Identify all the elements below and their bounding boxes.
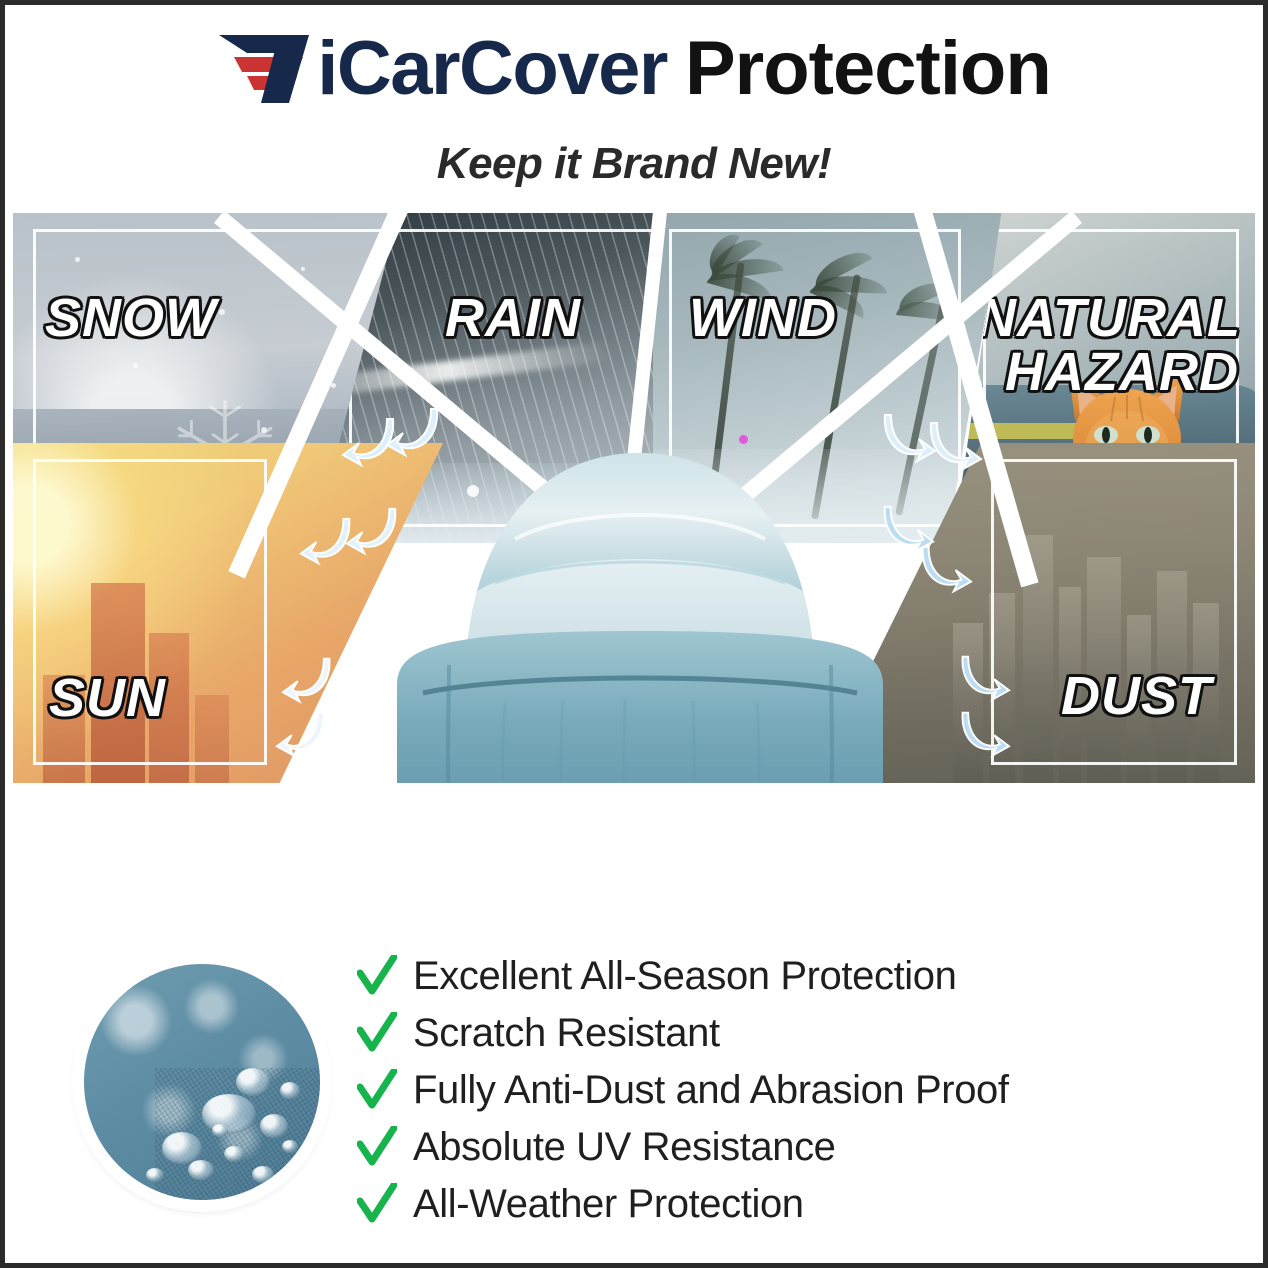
green-checkmark-icon: [357, 1069, 397, 1111]
icarcover-flag-logo-icon: [217, 31, 329, 107]
feature-label: Excellent All-Season Protection: [413, 956, 956, 996]
panel-label-wind: WIND: [689, 291, 837, 345]
panel-label-dust: DUST: [1061, 669, 1212, 723]
covered-car: [345, 435, 935, 783]
product-infographic: iCarCover Protection Keep it Brand New!: [0, 0, 1268, 1268]
feature-item: Absolute UV Resistance: [357, 1118, 1177, 1175]
panel-label-snow: SNOW: [45, 291, 217, 345]
feature-item: Scratch Resistant: [357, 1004, 1177, 1061]
curved-deflection-arrow-icon: [917, 541, 973, 601]
green-checkmark-icon: [357, 1126, 397, 1168]
feature-item: Excellent All-Season Protection: [357, 947, 1177, 1004]
panel-label-hazard: HAZARD: [1005, 345, 1239, 399]
brand-name: iCarCover: [317, 31, 667, 107]
feature-label: Absolute UV Resistance: [413, 1127, 836, 1167]
green-checkmark-icon: [357, 955, 397, 997]
curved-deflection-arrow-icon: [957, 707, 1011, 765]
panel-label-rain: RAIN: [445, 291, 581, 345]
feature-list: Excellent All-Season Protection Scratch …: [357, 947, 1177, 1232]
feature-label: All-Weather Protection: [413, 1184, 804, 1224]
curved-deflection-arrow-icon: [275, 707, 329, 765]
water-beading-image: [77, 957, 327, 1207]
curved-deflection-arrow-icon: [281, 653, 335, 711]
feature-label: Scratch Resistant: [413, 1013, 720, 1053]
curved-deflection-arrow-icon: [957, 651, 1011, 709]
panel-label-sun: SUN: [49, 671, 166, 725]
tagline: Keep it Brand New!: [5, 139, 1263, 189]
green-checkmark-icon: [357, 1012, 397, 1054]
feature-label: Fully Anti-Dust and Abrasion Proof: [413, 1070, 1009, 1110]
hero-panels: SNOW RAIN: [13, 213, 1255, 783]
product-name: Protection: [685, 31, 1051, 107]
header: iCarCover Protection Keep it Brand New!: [5, 5, 1263, 200]
curved-deflection-arrow-icon: [925, 417, 983, 479]
curved-deflection-arrow-icon: [345, 503, 401, 563]
panel-label-natural: NATURAL: [977, 291, 1241, 345]
features-section: Excellent All-Season Protection Scratch …: [5, 935, 1263, 1263]
title-row: iCarCover Protection: [5, 31, 1263, 107]
curved-deflection-arrow-icon: [385, 403, 443, 465]
feature-item: Fully Anti-Dust and Abrasion Proof: [357, 1061, 1177, 1118]
feature-item: All-Weather Protection: [357, 1175, 1177, 1232]
green-checkmark-icon: [357, 1183, 397, 1225]
